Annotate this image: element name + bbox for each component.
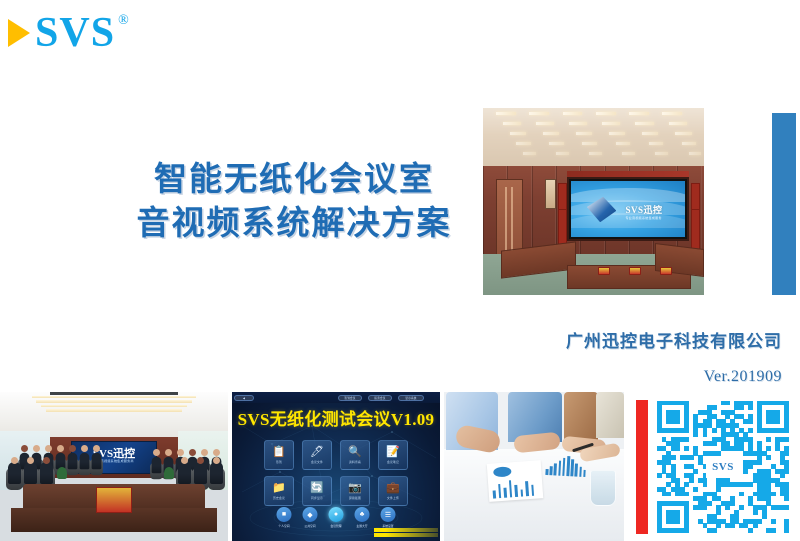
chart-bar bbox=[545, 469, 548, 475]
attendee-head bbox=[177, 449, 184, 456]
accent-bar bbox=[772, 113, 796, 295]
team-bar-group bbox=[543, 449, 588, 477]
hero-flower-1 bbox=[598, 267, 610, 275]
ui-bottom-nav: ■个人空间◆公共空间●会议管理♣主题大厅☰系统设置 bbox=[277, 507, 396, 528]
company-block: 广州迅控电子科技有限公司 Ver.201909 bbox=[566, 330, 782, 386]
ceiling-light bbox=[496, 112, 516, 115]
attendee-head bbox=[33, 445, 40, 452]
ui-nav-item-4[interactable]: ☰系统设置 bbox=[381, 507, 396, 528]
attendee-head bbox=[201, 449, 208, 456]
ceiling-light bbox=[682, 142, 697, 145]
company-name: 广州迅控电子科技有限公司 bbox=[566, 330, 782, 356]
ui-app-title: SVS无纸化测试会议V1.09 bbox=[232, 405, 440, 430]
ui-nav-icon: ● bbox=[329, 507, 344, 522]
attendee bbox=[152, 457, 162, 474]
attendee-head bbox=[21, 445, 28, 452]
chart-bar bbox=[579, 467, 582, 477]
ceiling-light bbox=[655, 152, 668, 155]
ui-nav-item-3[interactable]: ♣主题大厅 bbox=[355, 507, 370, 528]
ui-tile-icon: 📝 bbox=[386, 447, 400, 458]
attendee bbox=[194, 462, 207, 484]
ceiling-light bbox=[32, 396, 196, 398]
doc-bar bbox=[525, 481, 529, 496]
screen-wave bbox=[571, 213, 685, 227]
ui-nav-item-2[interactable]: ●会议管理 bbox=[329, 507, 344, 528]
team-chart-document bbox=[487, 460, 544, 502]
title-line-1: 智能无纸化会议室 bbox=[108, 157, 480, 201]
team-person-4 bbox=[596, 392, 624, 438]
ceiling-light bbox=[602, 122, 620, 125]
ui-tile-icon: 🔄 bbox=[310, 483, 324, 494]
hero-flower-3 bbox=[660, 267, 672, 275]
ceiling-light bbox=[596, 112, 616, 115]
ui-nav-label: 公共空间 bbox=[304, 524, 315, 528]
ui-pill-back[interactable]: ◀ bbox=[234, 395, 254, 401]
ui-tile-label: 文件上传 bbox=[387, 496, 399, 500]
ui-tile-6[interactable]: 📷屏幕截图 bbox=[340, 476, 370, 506]
ceiling-light bbox=[616, 142, 631, 145]
svs-logo: SVS ® bbox=[8, 12, 128, 54]
ui-tile-4[interactable]: 📁历史会议 bbox=[264, 476, 294, 506]
hero-couplet-right-2 bbox=[691, 209, 700, 250]
ui-function-grid: 📋签到🖊会议文件🔍资料查看📝会议笔记📁历史会议🔄同步显示📷屏幕截图💼文件上传 bbox=[264, 440, 408, 506]
ui-tile-7[interactable]: 💼文件上传 bbox=[378, 476, 408, 506]
hero-flower-2 bbox=[629, 267, 641, 275]
attendee-head bbox=[197, 457, 204, 464]
doc-bar bbox=[508, 480, 512, 497]
strip-panel-software-ui: ◀ 签到会议 投票会议 显示系统 SVS无纸化测试会议V1.09 📋签到🖊会议文… bbox=[232, 392, 440, 541]
doc-bar bbox=[503, 488, 506, 498]
ui-top-button-2[interactable]: 显示系统 bbox=[398, 395, 424, 401]
ceiling-light bbox=[556, 152, 569, 155]
attendee bbox=[92, 453, 102, 470]
p1-plant-right bbox=[164, 467, 174, 479]
attendee-head bbox=[181, 457, 188, 464]
attendee-head bbox=[165, 449, 172, 456]
registered-trademark-icon: ® bbox=[118, 13, 129, 29]
ui-tile-2[interactable]: 🔍资料查看 bbox=[340, 440, 370, 470]
hero-conference-room-image: SVS迅控 专业音视频系统集成服务 bbox=[483, 108, 704, 295]
doc-bar bbox=[531, 485, 534, 496]
doc-bar bbox=[514, 485, 517, 497]
attendee bbox=[8, 462, 21, 484]
p1-plant-left bbox=[57, 467, 67, 479]
chart-bar bbox=[566, 456, 570, 476]
ceiling-light bbox=[503, 122, 521, 125]
attendee-head bbox=[69, 445, 76, 452]
bottom-image-strip: SVS迅控 专业音视频系统集成服务商 bbox=[0, 392, 800, 541]
ceiling-light bbox=[582, 142, 597, 145]
ui-nav-item-1[interactable]: ◆公共空间 bbox=[303, 507, 318, 528]
ui-nav-icon: ■ bbox=[277, 507, 292, 522]
ui-tile-icon: 🔍 bbox=[348, 447, 362, 458]
ceiling-light bbox=[622, 152, 635, 155]
ceiling-light bbox=[689, 152, 702, 155]
ui-nav-item-0[interactable]: ■个人空间 bbox=[277, 507, 292, 528]
attendee bbox=[40, 462, 53, 484]
ceiling-light bbox=[609, 132, 625, 135]
attendee-head bbox=[213, 449, 220, 456]
ui-tile-1[interactable]: 🖊会议文件 bbox=[302, 440, 332, 470]
team-doc-bars bbox=[488, 478, 543, 502]
version-label: Ver.201909 bbox=[566, 368, 782, 386]
ceiling-light bbox=[516, 142, 531, 145]
ceiling-light bbox=[536, 122, 554, 125]
qr-red-bar bbox=[636, 400, 648, 534]
ui-nav-icon: ☰ bbox=[381, 507, 396, 522]
attendee bbox=[80, 453, 90, 470]
team-bar-chart bbox=[543, 451, 588, 477]
doc-bar bbox=[493, 490, 496, 498]
hero-screen-content: SVS迅控 专业音视频系统集成服务 bbox=[571, 181, 685, 237]
attendee bbox=[178, 462, 191, 484]
ceiling-light bbox=[46, 409, 183, 411]
ceiling-light bbox=[543, 132, 559, 135]
ceiling-light bbox=[669, 122, 687, 125]
qr-center-logo: SVS bbox=[706, 456, 740, 478]
ui-tile-0[interactable]: 📋签到 bbox=[264, 440, 294, 470]
ceiling-light bbox=[523, 152, 536, 155]
title-line-2: 音视频系统解决方案 bbox=[108, 201, 480, 245]
ceiling-light bbox=[549, 142, 564, 145]
ui-tile-label: 历史会议 bbox=[273, 496, 285, 500]
chart-bar bbox=[558, 461, 561, 476]
attendee-head bbox=[81, 445, 88, 452]
ui-tile-icon: 📋 bbox=[272, 447, 286, 458]
ceiling-light bbox=[576, 132, 592, 135]
ui-status-ticker bbox=[374, 528, 438, 538]
ui-nav-icon: ♣ bbox=[355, 507, 370, 522]
ui-tile-label: 屏幕截图 bbox=[349, 496, 361, 500]
chart-bar bbox=[554, 463, 557, 475]
ceiling-light bbox=[589, 152, 602, 155]
ui-tile-icon: 🖊 bbox=[310, 447, 324, 458]
ui-tile-3[interactable]: 📝会议笔记 bbox=[378, 440, 408, 470]
hero-wall-sconce bbox=[545, 179, 556, 209]
hero-ceiling bbox=[483, 108, 704, 168]
chart-bar bbox=[583, 470, 586, 477]
attendee bbox=[68, 453, 78, 470]
ui-nav-label: 个人空间 bbox=[278, 524, 289, 528]
ceiling-light bbox=[662, 112, 682, 115]
qr-code[interactable]: SVS bbox=[657, 401, 789, 533]
attendee-head bbox=[11, 457, 18, 464]
ceiling-light bbox=[642, 132, 658, 135]
ui-top-button-1[interactable]: 投票会议 bbox=[368, 395, 392, 401]
team-water-glass bbox=[590, 470, 616, 506]
ui-top-button-0[interactable]: 签到会议 bbox=[338, 395, 362, 401]
attendee-head bbox=[93, 445, 100, 452]
ui-tile-5[interactable]: 🔄同步显示 bbox=[302, 476, 332, 506]
attendee-head bbox=[153, 449, 160, 456]
ui-tile-label: 会议文件 bbox=[311, 460, 323, 464]
ceiling-light bbox=[36, 400, 191, 402]
attendee-head bbox=[45, 445, 52, 452]
strip-panel-conference-room: SVS迅控 专业音视频系统集成服务商 bbox=[0, 392, 228, 541]
ui-tile-icon: 💼 bbox=[386, 483, 400, 494]
chart-bar bbox=[575, 463, 578, 476]
ui-tile-label: 会议笔记 bbox=[387, 460, 399, 464]
chart-bar bbox=[550, 466, 553, 475]
ui-nav-icon: ◆ bbox=[303, 507, 318, 522]
ui-tile-icon: 📁 bbox=[272, 483, 286, 494]
p1-display-unit bbox=[96, 487, 132, 512]
ceiling-light bbox=[529, 112, 549, 115]
attendee-head bbox=[43, 457, 50, 464]
attendee-head bbox=[213, 457, 220, 464]
ceiling-light bbox=[510, 132, 526, 135]
doc-bar bbox=[520, 489, 523, 496]
attendee bbox=[24, 462, 37, 484]
ui-tile-label: 签到 bbox=[276, 460, 282, 464]
ceiling-light bbox=[629, 112, 649, 115]
chart-bar bbox=[562, 458, 565, 476]
ui-nav-label: 会议管理 bbox=[330, 524, 341, 528]
ceiling-light bbox=[649, 142, 664, 145]
ui-tile-icon: 📷 bbox=[348, 483, 362, 494]
ceiling-light bbox=[563, 112, 583, 115]
attendee-head bbox=[57, 445, 64, 452]
ui-top-bar: ◀ 签到会议 投票会议 显示系统 bbox=[232, 392, 440, 403]
team-doc-pie bbox=[493, 466, 512, 477]
ceiling-light bbox=[41, 405, 187, 407]
ceiling-slat bbox=[50, 392, 178, 395]
ceiling-light bbox=[675, 132, 691, 135]
hero-led-screen: SVS迅控 专业音视频系统集成服务 bbox=[567, 177, 689, 241]
doc-bar bbox=[498, 484, 501, 498]
ceiling-light bbox=[569, 122, 587, 125]
attendee-head bbox=[189, 449, 196, 456]
slide-root: SVS ® 智能无纸化会议室 音视频系统解决方案 SVS迅控 专业音视频系统集成… bbox=[0, 0, 800, 541]
page-title: 智能无纸化会议室 音视频系统解决方案 bbox=[108, 157, 480, 245]
team-person-3 bbox=[564, 392, 598, 440]
logo-triangle-icon bbox=[8, 19, 30, 47]
strip-panel-team-meeting bbox=[444, 392, 624, 541]
ui-tile-label: 同步显示 bbox=[311, 496, 323, 500]
attendee bbox=[210, 462, 223, 484]
attendee-head bbox=[27, 457, 34, 464]
strip-panel-qr: SVS bbox=[628, 392, 800, 541]
ui-tile-label: 资料查看 bbox=[349, 460, 361, 464]
chart-bar bbox=[571, 459, 574, 476]
logo-text: SVS bbox=[35, 12, 115, 54]
ceiling-light bbox=[635, 122, 653, 125]
ui-nav-label: 主题大厅 bbox=[356, 524, 367, 528]
